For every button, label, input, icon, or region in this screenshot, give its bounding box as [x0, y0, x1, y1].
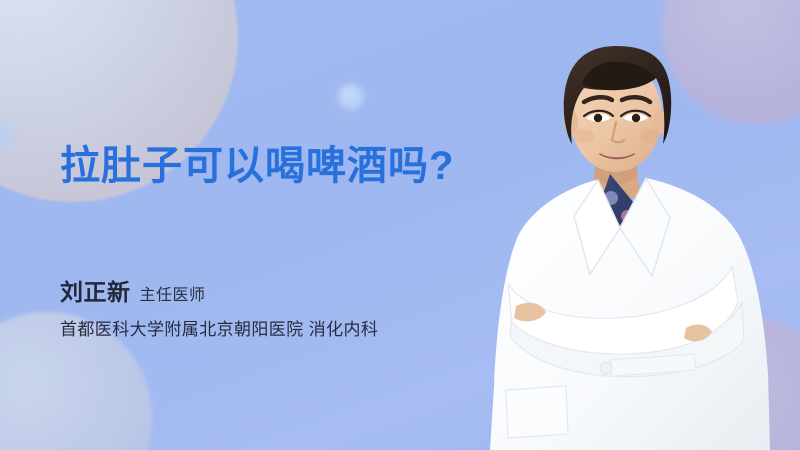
page-title: 拉肚子可以喝啤酒吗?: [60, 146, 454, 186]
doctor-name: 刘正新: [60, 279, 131, 305]
doctor-portrait: [470, 30, 800, 450]
video-cover-card: 拉肚子可以喝啤酒吗? 刘正新 主任医师 首都医科大学附属北京朝阳医院 消化内科: [0, 0, 800, 450]
doctor-name-line: 刘正新 主任医师: [60, 279, 378, 305]
doctor-affiliation: 首都医科大学附属北京朝阳医院 消化内科: [60, 315, 378, 340]
doctor-title: 主任医师: [140, 287, 206, 305]
decorative-dot-center: [338, 84, 364, 110]
decorative-dot-left-edge: [0, 120, 14, 150]
doctor-info-block: 刘正新 主任医师 首都医科大学附属北京朝阳医院 消化内科: [60, 279, 378, 340]
